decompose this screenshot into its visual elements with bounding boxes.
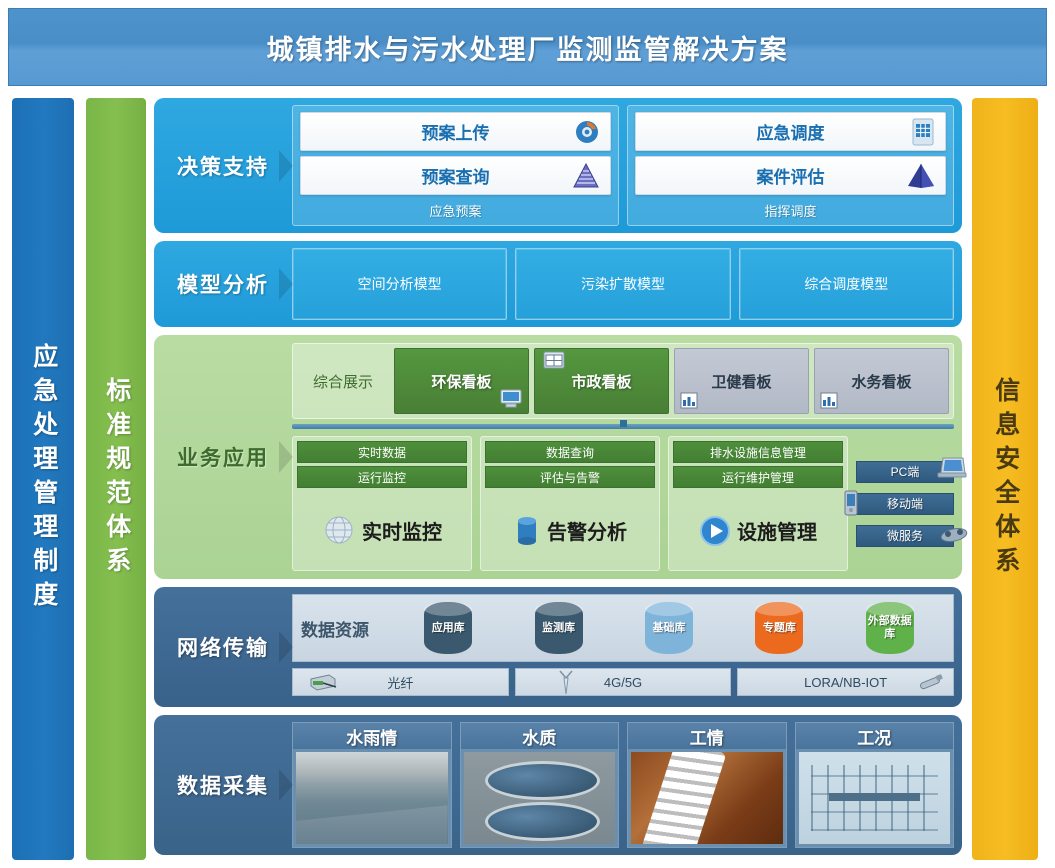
tech-4g5g-label: 4G/5G bbox=[604, 675, 642, 690]
database-basic-label: 基础库 bbox=[652, 622, 685, 635]
dashboard-tile-water-affairs-label: 水务看板 bbox=[851, 371, 911, 392]
business-column-query: 数据查询 评估与告警 告警分析 bbox=[480, 436, 660, 571]
data-card-operating-condition[interactable]: 工况 bbox=[795, 722, 955, 848]
chart-icon bbox=[820, 392, 838, 409]
tech-lora-nbiot-label: LORA/NB-IOT bbox=[804, 675, 887, 690]
database-monitoring[interactable]: 监测库 bbox=[535, 602, 583, 654]
model-item-pollution-diffusion[interactable]: 污染扩散模型 bbox=[515, 248, 730, 320]
decision-item-plan-query[interactable]: 预案查询 bbox=[300, 156, 611, 195]
decision-item-case-evaluation-label: 案件评估 bbox=[757, 163, 825, 188]
business-sub-data-query[interactable]: 数据查询 bbox=[485, 441, 655, 463]
database-basic[interactable]: 基础库 bbox=[645, 602, 693, 654]
pyramid-icon bbox=[572, 163, 600, 189]
pillar-emergency-policy: 应急处理管理制度 bbox=[12, 98, 74, 860]
layer-decision-support: 决策支持 预案上传 预案查询 bbox=[154, 98, 962, 233]
database-icon bbox=[513, 515, 541, 547]
pyramid-dark-icon bbox=[907, 163, 935, 189]
layer-decision-support-label: 决策支持 bbox=[154, 98, 292, 233]
phone-icon bbox=[843, 490, 859, 516]
tech-fiber-label: 光纤 bbox=[387, 673, 413, 692]
data-card-project-status-title: 工情 bbox=[628, 723, 786, 749]
layer-model-analysis: 模型分析 空间分析模型 污染扩散模型 综合调度模型 bbox=[154, 241, 962, 327]
database-thematic-label: 专题库 bbox=[763, 622, 796, 635]
business-divider bbox=[292, 424, 954, 429]
decision-item-plan-upload[interactable]: 预案上传 bbox=[300, 112, 611, 151]
fiber-icon bbox=[307, 672, 337, 692]
pillar-information-security-label: 信息安全体系 bbox=[991, 377, 1019, 581]
database-external[interactable]: 外部数据库 bbox=[866, 602, 914, 654]
data-resources-row: 数据资源 应用库 监测库 基础库 bbox=[292, 594, 954, 662]
database-thematic[interactable]: 专题库 bbox=[755, 602, 803, 654]
business-sub-operation-monitor[interactable]: 运行监控 bbox=[297, 466, 467, 488]
dashboard-tile-water-affairs[interactable]: 水务看板 bbox=[814, 348, 949, 414]
pillar-standard-system: 标准规范体系 bbox=[86, 98, 146, 860]
business-main-alarm-analysis[interactable]: 告警分析 bbox=[485, 491, 655, 566]
business-sub-drainage-facility-info[interactable]: 排水设施信息管理 bbox=[673, 441, 843, 463]
architecture-stack: 决策支持 预案上传 预案查询 bbox=[154, 98, 962, 855]
tech-4g5g[interactable]: 4G/5G bbox=[515, 668, 732, 696]
data-resources-label: 数据资源 bbox=[301, 616, 393, 641]
data-card-rainfall[interactable]: 水雨情 bbox=[292, 722, 452, 848]
business-column-realtime: 实时数据 运行监控 实时监控 bbox=[292, 436, 472, 571]
business-sub-operation-maintenance[interactable]: 运行维护管理 bbox=[673, 466, 843, 488]
data-card-project-status[interactable]: 工情 bbox=[627, 722, 787, 848]
layer-data-collection: 数据采集 水雨情 水质 工情 工况 bbox=[154, 715, 962, 855]
pillar-emergency-policy-label: 应急处理管理制度 bbox=[29, 343, 57, 615]
data-card-water-quality[interactable]: 水质 bbox=[460, 722, 620, 848]
laptop-icon bbox=[937, 456, 967, 480]
dashboard-tile-municipal-label: 市政看板 bbox=[571, 371, 631, 392]
terminal-badge-mobile[interactable]: 移动端 bbox=[856, 493, 954, 515]
data-card-operating-condition-photo bbox=[799, 752, 951, 844]
chart-icon bbox=[680, 392, 698, 409]
cylinder-top bbox=[866, 602, 914, 616]
terminal-badge-pc-label: PC端 bbox=[891, 463, 920, 480]
service-icon bbox=[939, 522, 969, 544]
terminal-badge-microservice[interactable]: 微服务 bbox=[856, 525, 954, 547]
window-icon bbox=[543, 351, 565, 371]
pillar-information-security: 信息安全体系 bbox=[972, 98, 1038, 860]
data-card-project-status-photo bbox=[631, 752, 783, 844]
business-sub-assessment-alarm[interactable]: 评估与告警 bbox=[485, 466, 655, 488]
business-sub-realtime-data[interactable]: 实时数据 bbox=[297, 441, 467, 463]
data-card-water-quality-title: 水质 bbox=[461, 723, 619, 749]
layer-business-application: 业务应用 综合展示 环保看板 bbox=[154, 335, 962, 579]
model-item-integrated-dispatch-label: 综合调度模型 bbox=[804, 274, 888, 294]
decision-item-emergency-dispatch[interactable]: 应急调度 bbox=[635, 112, 946, 151]
model-item-spatial-analysis-label: 空间分析模型 bbox=[358, 274, 442, 294]
decision-group-emergency-plan: 预案上传 预案查询 bbox=[292, 105, 619, 226]
data-card-rainfall-title: 水雨情 bbox=[293, 723, 451, 749]
business-main-realtime-monitoring[interactable]: 实时监控 bbox=[297, 491, 467, 566]
sensor-icon bbox=[917, 671, 945, 693]
terminal-badge-microservice-label: 微服务 bbox=[887, 527, 923, 544]
data-card-rainfall-photo bbox=[296, 752, 448, 844]
decision-item-case-evaluation[interactable]: 案件评估 bbox=[635, 156, 946, 195]
title-banner: 城镇排水与污水处理厂监测监管解决方案 bbox=[8, 8, 1047, 86]
play-circle-icon bbox=[699, 515, 731, 547]
page-title: 城镇排水与污水处理厂监测监管解决方案 bbox=[267, 28, 789, 67]
dashboard-tile-environment[interactable]: 环保看板 bbox=[394, 348, 529, 414]
database-row: 应用库 监测库 基础库 专题库 bbox=[393, 602, 945, 654]
business-main-facility-management-label: 设施管理 bbox=[737, 516, 817, 545]
business-columns: 实时数据 运行监控 实时监控 bbox=[292, 436, 954, 571]
model-item-spatial-analysis[interactable]: 空间分析模型 bbox=[292, 248, 507, 320]
decision-group-command-dispatch: 应急调度 bbox=[627, 105, 954, 226]
data-card-operating-condition-title: 工况 bbox=[796, 723, 954, 749]
business-main-alarm-analysis-label: 告警分析 bbox=[547, 516, 627, 545]
decision-item-emergency-dispatch-label: 应急调度 bbox=[757, 119, 825, 144]
layer-network-transmission: 网络传输 数据资源 应用库 监测库 基础库 bbox=[154, 587, 962, 707]
business-main-realtime-monitoring-label: 实时监控 bbox=[362, 516, 442, 545]
model-item-pollution-diffusion-label: 污染扩散模型 bbox=[581, 274, 665, 294]
cylinder-top bbox=[535, 602, 583, 616]
antenna-icon bbox=[556, 670, 576, 696]
data-card-water-quality-photo bbox=[464, 752, 616, 844]
dashboard-row: 综合展示 环保看板 bbox=[292, 343, 954, 419]
globe-icon bbox=[322, 514, 356, 548]
terminal-badge-pc[interactable]: PC端 bbox=[856, 461, 954, 483]
cylinder-top bbox=[424, 602, 472, 616]
layer-business-application-label: 业务应用 bbox=[154, 335, 292, 579]
monitor-icon bbox=[500, 389, 522, 409]
pillar-standard-system-label: 标准规范体系 bbox=[102, 377, 130, 581]
database-application-label: 应用库 bbox=[432, 622, 465, 635]
tech-lora-nbiot[interactable]: LORA/NB-IOT bbox=[737, 668, 954, 696]
model-item-integrated-dispatch[interactable]: 综合调度模型 bbox=[739, 248, 954, 320]
dashboard-tile-health[interactable]: 卫健看板 bbox=[674, 348, 809, 414]
business-main-facility-management[interactable]: 设施管理 bbox=[673, 491, 843, 566]
cylinder-top bbox=[755, 602, 803, 616]
database-external-label: 外部数据库 bbox=[866, 615, 914, 640]
business-column-facility: 排水设施信息管理 运行维护管理 设施管理 bbox=[668, 436, 848, 571]
layer-data-collection-label: 数据采集 bbox=[154, 715, 292, 855]
decision-group-command-dispatch-label: 指挥调度 bbox=[635, 200, 946, 223]
terminal-badges: PC端 移动端 bbox=[856, 436, 954, 571]
decision-group-emergency-plan-label: 应急预案 bbox=[300, 200, 611, 223]
layer-model-analysis-label: 模型分析 bbox=[154, 241, 292, 327]
dashboard-tile-municipal[interactable]: 市政看板 bbox=[534, 348, 669, 414]
dashboard-row-label: 综合展示 bbox=[297, 348, 389, 414]
dashboard-tile-environment-label: 环保看板 bbox=[431, 371, 491, 392]
cylinder-top bbox=[645, 602, 693, 616]
layer-network-transmission-label: 网络传输 bbox=[154, 587, 292, 707]
decision-item-plan-upload-label: 预案上传 bbox=[422, 119, 490, 144]
decision-item-plan-query-label: 预案查询 bbox=[422, 163, 490, 188]
database-monitoring-label: 监测库 bbox=[542, 622, 575, 635]
tech-fiber[interactable]: 光纤 bbox=[292, 668, 509, 696]
grid-table-icon bbox=[911, 118, 935, 146]
transmission-technologies: 光纤 4G/5G LORA/NB-IOT bbox=[292, 668, 954, 696]
cycle-icon bbox=[574, 119, 600, 145]
terminal-badge-mobile-label: 移动端 bbox=[887, 495, 923, 512]
database-application[interactable]: 应用库 bbox=[424, 602, 472, 654]
dashboard-tile-health-label: 卫健看板 bbox=[711, 371, 771, 392]
